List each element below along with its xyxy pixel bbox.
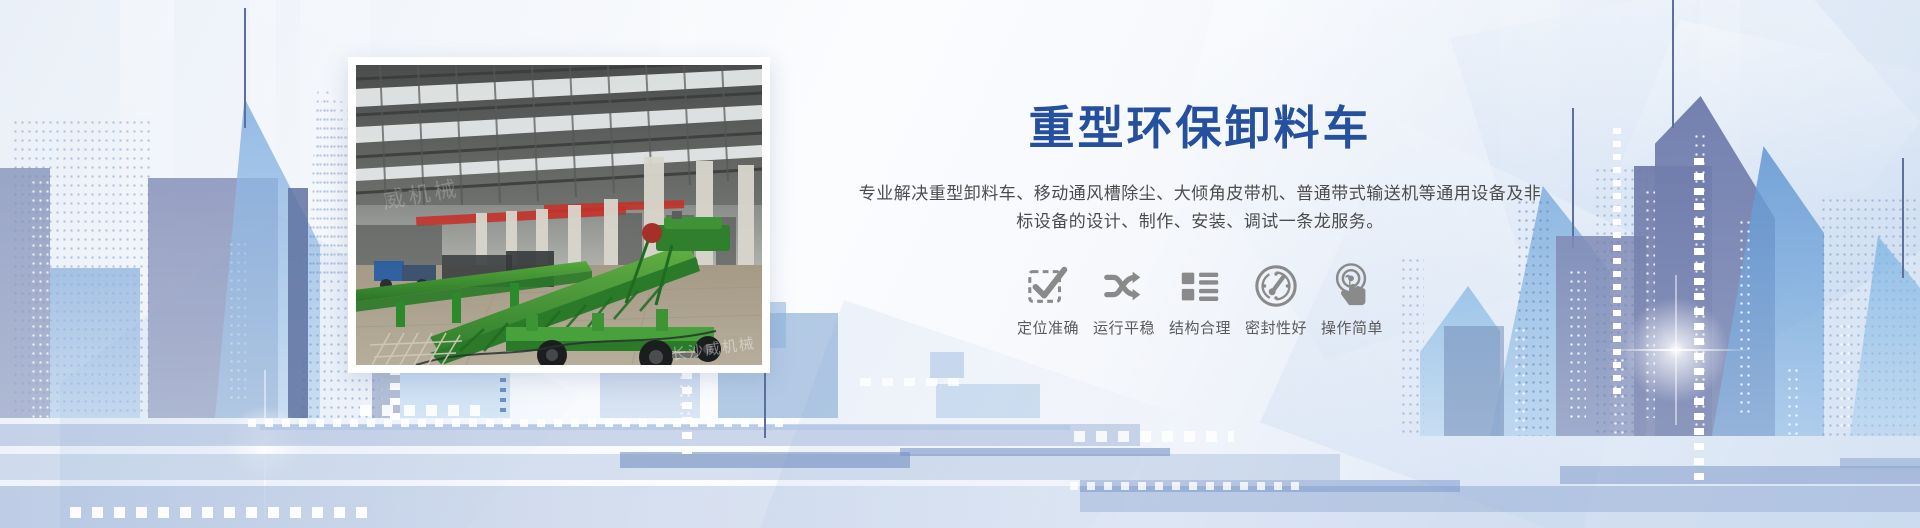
feature-item-sealing[interactable]: 密封性好 — [1238, 263, 1314, 338]
feature-label: 运行平稳 — [1093, 317, 1155, 338]
city-building — [288, 188, 308, 418]
city-building-windows — [1513, 326, 1529, 436]
light-column — [1700, 0, 1740, 528]
city-building-windows — [1693, 132, 1709, 432]
bottom-band — [1080, 486, 1920, 512]
bottom-band — [0, 454, 1340, 480]
feature-label: 操作简单 — [1321, 317, 1383, 338]
polygon-shape — [1620, 20, 1920, 350]
layout-list-icon — [1177, 263, 1223, 309]
bottom-band — [260, 425, 1070, 430]
city-building-windows — [1738, 218, 1754, 418]
dashed-row — [70, 507, 370, 518]
feature-label: 密封性好 — [1245, 317, 1307, 338]
feature-label: 定位准确 — [1017, 317, 1079, 338]
product-photo-frame: 威机械 长沙威机械 — [348, 57, 770, 373]
city-building — [50, 268, 140, 418]
banner-subtitle: 专业解决重型卸料车、移动通风槽除尘、大倾角皮带机、普通带式输送机等通用设备及非标… — [800, 180, 1600, 238]
banner-content: 重型环保卸料车 专业解决重型卸料车、移动通风槽除尘、大倾角皮带机、普通带式输送机… — [800, 100, 1600, 338]
page-title: 重型环保卸料车 — [800, 100, 1600, 158]
bottom-band — [900, 448, 1170, 456]
bottom-band — [1840, 458, 1920, 468]
city-building — [930, 352, 964, 378]
city-building — [1850, 236, 1920, 436]
dotted-row — [1070, 482, 1300, 490]
building-spire — [1902, 158, 1904, 278]
light-column — [120, 0, 174, 528]
bottom-band — [0, 424, 1140, 446]
city-building — [1820, 196, 1920, 436]
city-building — [148, 178, 278, 418]
light-flare — [220, 400, 310, 490]
bottom-band — [1560, 466, 1920, 484]
hand-tap-icon — [1329, 263, 1375, 309]
dotted-column — [1694, 158, 1704, 488]
city-building — [215, 98, 320, 418]
light-column — [250, 0, 276, 528]
city-building-windows — [228, 240, 246, 400]
check-box-icon — [1025, 263, 1071, 309]
building-spire — [1672, 0, 1674, 128]
city-building — [1634, 166, 1712, 436]
feature-item-stability[interactable]: 运行平稳 — [1086, 263, 1162, 338]
city-building — [1655, 96, 1775, 436]
city-building-windows — [1612, 356, 1626, 436]
feature-item-structure[interactable]: 结构合理 — [1162, 263, 1238, 338]
city-building-windows — [1786, 366, 1800, 436]
building-spire — [244, 8, 246, 128]
seal-gauge-icon — [1253, 263, 1299, 309]
feature-item-positioning[interactable]: 定位准确 — [1010, 263, 1086, 338]
hero-banner: 威机械 长沙威机械 重型环保卸料车 专业解决重型卸料车、移动通风槽除尘、大倾角皮… — [0, 0, 1920, 528]
city-building-windows — [30, 178, 50, 418]
city-building-windows — [1838, 322, 1854, 432]
bottom-band — [620, 452, 910, 468]
dashed-row — [860, 378, 970, 386]
bottom-band — [1080, 480, 1460, 492]
dotted-row — [248, 419, 788, 427]
city-building — [0, 168, 50, 418]
city-building-windows — [1644, 188, 1660, 418]
light-flare — [1616, 290, 1736, 410]
bottom-band — [0, 486, 1920, 528]
city-building — [1594, 166, 1714, 436]
city-building — [1444, 326, 1504, 436]
product-photo: 威机械 长沙威机械 — [356, 65, 762, 365]
dotted-column — [1613, 128, 1621, 398]
shuffle-icon — [1101, 263, 1147, 309]
city-building — [12, 118, 152, 418]
feature-label: 结构合理 — [1169, 317, 1231, 338]
feature-item-operation[interactable]: 操作简单 — [1314, 263, 1390, 338]
feature-list: 定位准确 运行平稳 — [800, 263, 1600, 338]
dashed-row — [1074, 431, 1234, 442]
dashed-row — [360, 405, 480, 416]
city-building — [1712, 146, 1824, 436]
city-building — [936, 384, 1040, 418]
